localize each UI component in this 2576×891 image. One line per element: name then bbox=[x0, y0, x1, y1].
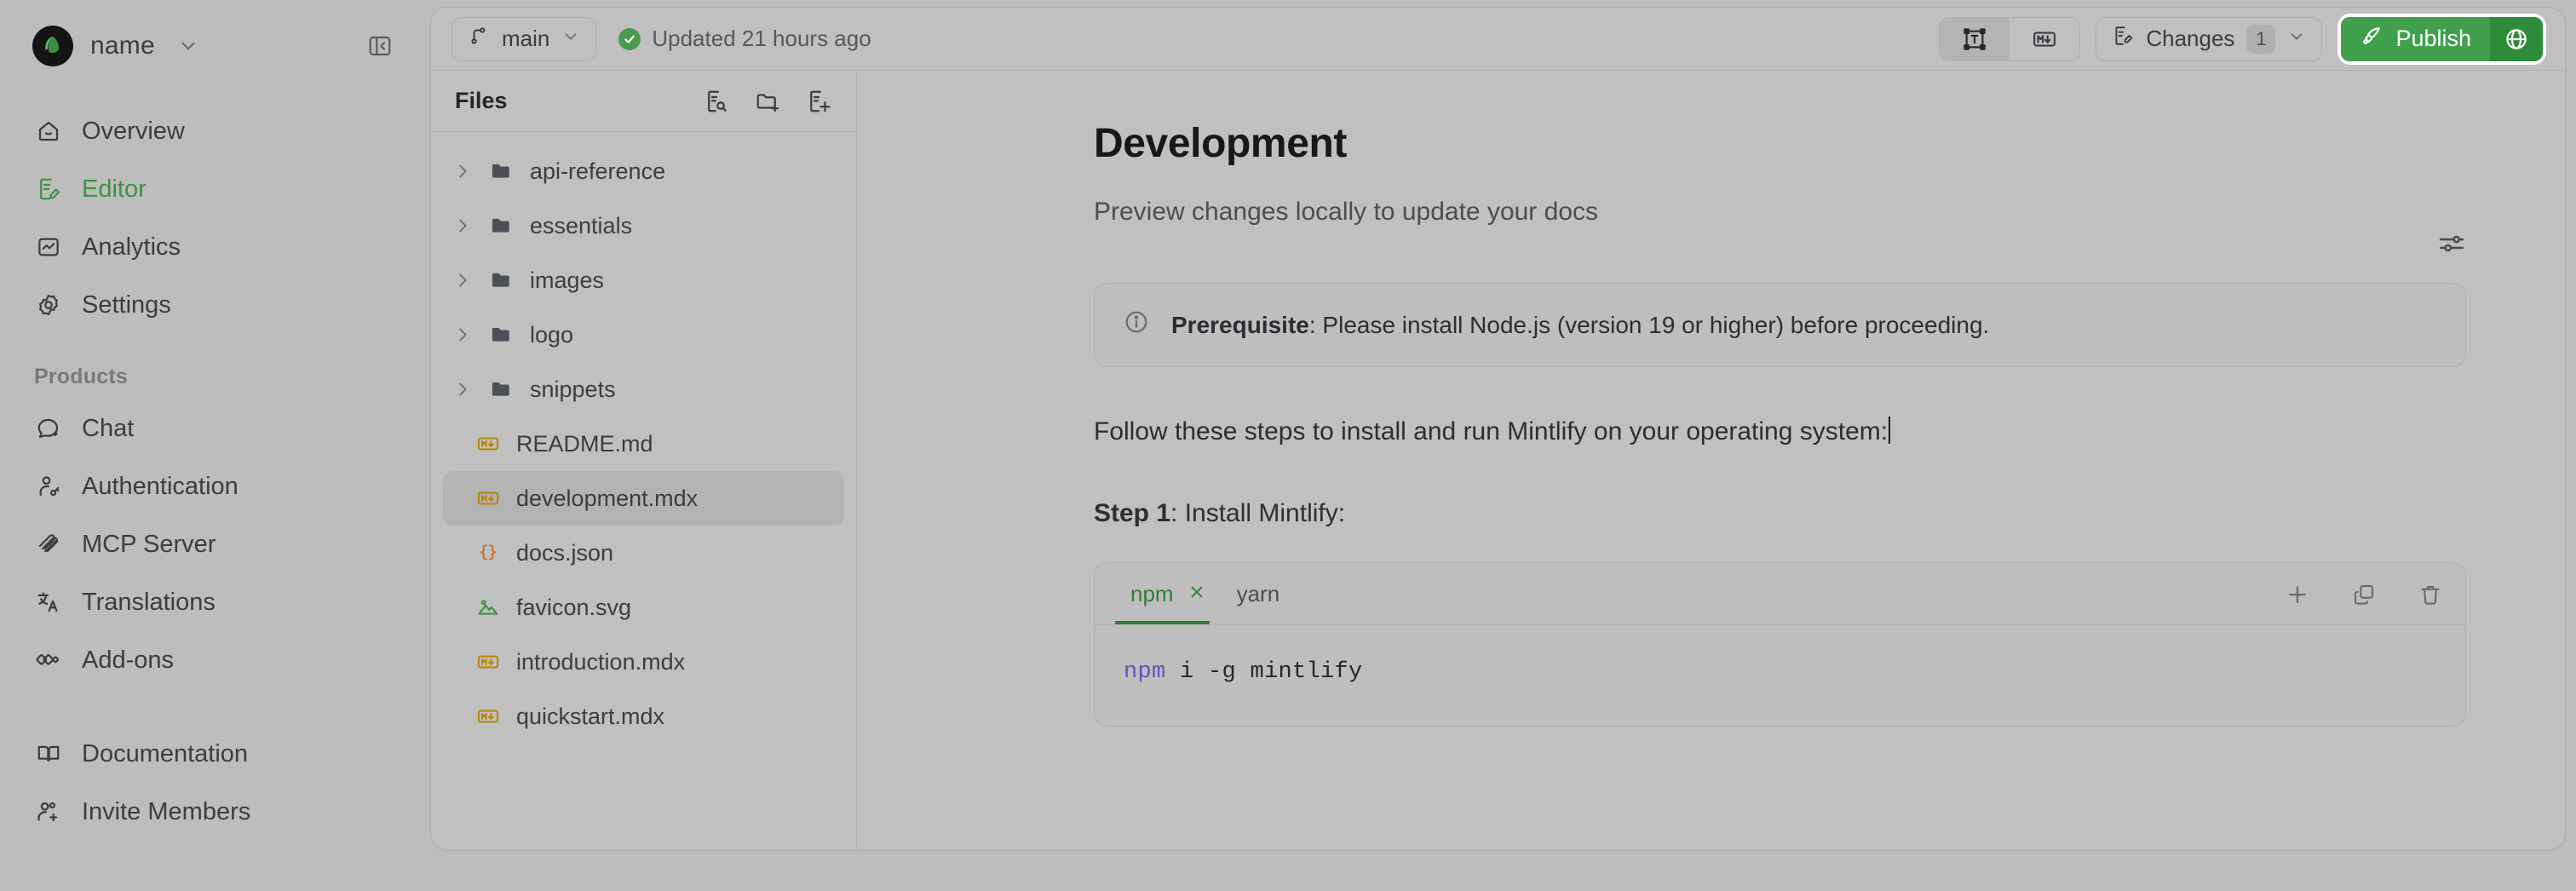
sidebar-item-documentation[interactable]: Documentation bbox=[22, 725, 408, 783]
org-switcher[interactable]: name bbox=[22, 0, 408, 92]
chevron-down-icon bbox=[561, 26, 580, 52]
editor-toolbar: main Updated 21 hours ago bbox=[431, 8, 2565, 71]
chevron-right-icon[interactable] bbox=[451, 162, 474, 181]
file-tree-file[interactable]: docs.json bbox=[443, 526, 844, 580]
chat-bubble-icon bbox=[34, 414, 63, 443]
page-title: Development bbox=[1094, 120, 2466, 167]
file-name: docs.json bbox=[516, 540, 613, 566]
chevron-right-icon[interactable] bbox=[451, 380, 474, 399]
git-branch-icon bbox=[468, 25, 490, 53]
analytics-chart-icon bbox=[34, 233, 63, 262]
file-tree-folder[interactable]: logo bbox=[443, 308, 844, 362]
sidebar-item-invite-members[interactable]: Invite Members bbox=[22, 783, 408, 841]
sidebar-item-label: Analytics bbox=[82, 233, 181, 262]
toolbar-right-group: Changes 1 Publish bbox=[1939, 14, 2546, 65]
file-name: images bbox=[530, 267, 604, 294]
sidebar-item-label: Settings bbox=[82, 291, 171, 319]
publish-button[interactable]: Publish bbox=[2341, 17, 2490, 61]
sidebar-item-label: Editor bbox=[82, 175, 147, 204]
sidebar-item-translations[interactable]: Translations bbox=[22, 573, 408, 631]
markdown-file-icon bbox=[474, 486, 503, 510]
code-content[interactable]: npm i -g mintlify bbox=[1095, 624, 2465, 726]
sidebar: name Overview Editor bbox=[0, 0, 430, 891]
mintlify-leaf-logo bbox=[32, 26, 73, 66]
file-edit-icon bbox=[2112, 25, 2134, 53]
chevron-down-icon bbox=[177, 35, 199, 57]
file-name: README.md bbox=[516, 431, 653, 457]
org-name: name bbox=[90, 32, 155, 60]
copy-icon[interactable] bbox=[2349, 580, 2378, 609]
addons-diamond-icon bbox=[34, 646, 63, 675]
file-name: logo bbox=[530, 322, 573, 348]
globe-icon[interactable] bbox=[2490, 17, 2543, 61]
changes-label: Changes bbox=[2146, 26, 2234, 52]
file-name: essentials bbox=[530, 213, 632, 239]
gear-icon bbox=[34, 290, 63, 319]
code-block-tabs: npm yarn bbox=[1095, 563, 2465, 624]
file-search-icon[interactable] bbox=[701, 86, 732, 117]
sidebar-item-add-ons[interactable]: Add-ons bbox=[22, 631, 408, 689]
markdown-file-icon bbox=[474, 650, 503, 674]
file-tree: api-reference essentials bbox=[431, 132, 856, 744]
file-tree-file[interactable]: favicon.svg bbox=[443, 580, 844, 635]
file-tree-folder[interactable]: essentials bbox=[443, 198, 844, 253]
sidebar-item-label: Invite Members bbox=[82, 798, 250, 826]
step-bold: Step 1 bbox=[1094, 499, 1170, 527]
file-name: development.mdx bbox=[516, 486, 698, 512]
changes-button[interactable]: Changes 1 bbox=[2096, 17, 2322, 61]
chevron-down-icon bbox=[2287, 26, 2306, 52]
sidebar-item-settings[interactable]: Settings bbox=[22, 276, 408, 334]
markdown-file-icon bbox=[474, 432, 503, 456]
home-icon bbox=[34, 117, 63, 146]
info-circle-icon bbox=[1124, 309, 1149, 341]
editor-body: Files bbox=[431, 71, 2565, 849]
text-caret bbox=[1889, 417, 1890, 444]
folder-icon bbox=[487, 214, 516, 238]
step-line: Step 1: Install Mintlify: bbox=[1094, 499, 2466, 528]
sidebar-item-label: Authentication bbox=[82, 473, 239, 501]
file-tree-file-selected[interactable]: development.mdx bbox=[443, 471, 844, 526]
callout-bold: Prerequisite bbox=[1171, 312, 1309, 338]
branch-name: main bbox=[502, 26, 549, 52]
page-subtitle: Preview changes locally to update your d… bbox=[1094, 198, 2466, 227]
publish-focus-ring: Publish bbox=[2337, 14, 2546, 65]
file-tree-folder[interactable]: snippets bbox=[443, 362, 844, 417]
chevron-right-icon[interactable] bbox=[451, 325, 474, 344]
file-tree-file[interactable]: introduction.mdx bbox=[443, 635, 844, 689]
callout-rest: : Please install Node.js (version 19 or … bbox=[1309, 312, 1989, 338]
translate-icon bbox=[34, 588, 63, 617]
folder-icon bbox=[487, 268, 516, 292]
markdown-file-icon bbox=[474, 704, 503, 728]
sidebar-primary-nav: Overview Editor Analytics Settings bbox=[22, 102, 408, 841]
files-panel-actions bbox=[701, 86, 834, 117]
lock-user-icon bbox=[34, 472, 63, 501]
editor-card: main Updated 21 hours ago bbox=[430, 7, 2566, 850]
step-rest: : Install Mintlify: bbox=[1170, 499, 1345, 527]
app-root: name Overview Editor bbox=[0, 0, 2576, 891]
user-plus-icon bbox=[34, 797, 63, 826]
sidebar-item-authentication[interactable]: Authentication bbox=[22, 457, 408, 515]
document-pane: Development Preview changes locally to u… bbox=[857, 71, 2565, 849]
sidebar-item-label: Add-ons bbox=[82, 647, 174, 675]
intro-paragraph-text: Follow these steps to install and run Mi… bbox=[1094, 417, 1888, 445]
code-block-tools bbox=[2283, 580, 2445, 624]
document-edit-icon bbox=[34, 175, 63, 204]
sidebar-item-editor[interactable]: Editor bbox=[22, 160, 408, 218]
sidebar-item-chat[interactable]: Chat bbox=[22, 400, 408, 457]
chevron-right-icon[interactable] bbox=[451, 216, 474, 235]
sliders-icon[interactable] bbox=[2437, 229, 2466, 262]
file-tree-folder[interactable]: images bbox=[443, 253, 844, 308]
changes-count-badge: 1 bbox=[2246, 25, 2275, 54]
json-file-icon bbox=[474, 541, 503, 565]
trash-icon[interactable] bbox=[2416, 580, 2445, 609]
code-tab-npm[interactable]: npm bbox=[1115, 563, 1222, 624]
panel-collapse-icon[interactable] bbox=[362, 28, 398, 64]
image-file-icon bbox=[474, 595, 503, 619]
new-folder-icon[interactable] bbox=[752, 86, 783, 117]
sidebar-item-label: Documentation bbox=[82, 740, 248, 768]
folder-icon bbox=[487, 377, 516, 401]
sidebar-item-mcp-server[interactable]: MCP Server bbox=[22, 515, 408, 573]
check-circle-icon bbox=[618, 28, 641, 50]
update-status: Updated 21 hours ago bbox=[618, 26, 871, 52]
rocket-icon bbox=[2360, 24, 2383, 54]
file-name: snippets bbox=[530, 377, 616, 403]
intro-paragraph[interactable]: Follow these steps to install and run Mi… bbox=[1094, 417, 1890, 446]
sidebar-item-analytics[interactable]: Analytics bbox=[22, 218, 408, 276]
sidebar-item-overview[interactable]: Overview bbox=[22, 102, 408, 160]
sidebar-item-label: Chat bbox=[82, 415, 134, 443]
files-panel-title: Files bbox=[455, 88, 508, 114]
file-tree-file[interactable]: quickstart.mdx bbox=[443, 689, 844, 744]
files-panel: Files bbox=[431, 71, 857, 849]
file-name: favicon.svg bbox=[516, 595, 631, 621]
folder-icon bbox=[487, 323, 516, 347]
file-tree-file[interactable]: README.md bbox=[443, 417, 844, 471]
visual-editor-icon[interactable] bbox=[1940, 18, 2010, 60]
book-icon bbox=[34, 739, 63, 768]
file-tree-folder[interactable]: api-reference bbox=[443, 144, 844, 198]
branch-selector[interactable]: main bbox=[451, 17, 596, 61]
code-tab-label: yarn bbox=[1237, 581, 1280, 607]
markdown-icon[interactable] bbox=[2010, 18, 2079, 60]
file-name: quickstart.mdx bbox=[516, 704, 664, 730]
sidebar-item-label: MCP Server bbox=[82, 531, 216, 559]
code-keyword: npm bbox=[1124, 659, 1166, 685]
new-file-icon[interactable] bbox=[803, 86, 834, 117]
file-name: api-reference bbox=[530, 158, 665, 185]
close-icon[interactable] bbox=[1187, 583, 1206, 606]
code-tab-label: npm bbox=[1130, 581, 1174, 607]
files-panel-header: Files bbox=[431, 71, 856, 132]
publish-label: Publish bbox=[2395, 26, 2471, 52]
file-name: introduction.mdx bbox=[516, 649, 685, 675]
callout-text: Prerequisite: Please install Node.js (ve… bbox=[1171, 312, 1989, 339]
publish-button-group[interactable]: Publish bbox=[2341, 17, 2543, 61]
chevron-right-icon[interactable] bbox=[451, 271, 474, 290]
update-status-text: Updated 21 hours ago bbox=[652, 26, 871, 52]
sidebar-item-label: Overview bbox=[82, 118, 185, 146]
plus-icon[interactable] bbox=[2283, 580, 2312, 609]
view-mode-toggle[interactable] bbox=[1939, 17, 2080, 61]
sidebar-section-products: Products bbox=[22, 365, 408, 389]
prerequisite-callout: Prerequisite: Please install Node.js (ve… bbox=[1094, 283, 2466, 367]
code-block: npm yarn bbox=[1094, 562, 2466, 727]
folder-icon bbox=[487, 159, 516, 183]
sidebar-divider-space bbox=[22, 689, 408, 725]
code-rest: i -g mintlify bbox=[1166, 659, 1363, 685]
sidebar-item-label: Translations bbox=[82, 589, 216, 617]
code-tab-yarn[interactable]: yarn bbox=[1222, 563, 1296, 624]
mcp-stack-icon bbox=[34, 530, 63, 559]
